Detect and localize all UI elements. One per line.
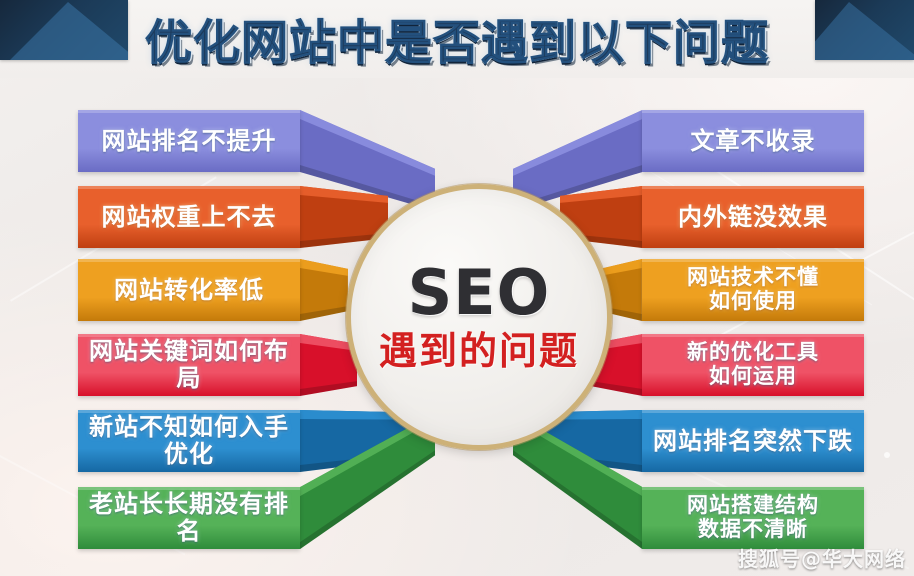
problem-bar-label: 网站排名不提升 (102, 128, 277, 155)
center-circle: SEO 遇到的问题 (346, 184, 612, 450)
problem-bar-label: 网站权重上不去 (102, 204, 277, 231)
problem-bar-label: 老站长长期没有排名 (86, 491, 292, 545)
page-title: 优化网站中是否遇到以下问题 (0, 6, 914, 70)
right-problem-bar-1[interactable]: 文章不收录 (642, 110, 864, 172)
problem-bar-label: 网站转化率低 (114, 277, 264, 304)
left-problem-bar-1[interactable]: 网站排名不提升 (78, 110, 300, 172)
right-problem-bar-4[interactable]: 新的优化工具如何运用 (642, 334, 864, 396)
problem-bar-label: 网站排名突然下跌 (653, 428, 853, 455)
right-problem-bar-6[interactable]: 网站搭建结构数据不清晰 (642, 487, 864, 549)
watermark: 搜狐号@华大网络 (738, 543, 906, 572)
problem-bar-label: 新站不知如何入手优化 (86, 414, 292, 468)
problem-bar-label: 文章不收录 (691, 128, 816, 155)
left-problem-bar-2[interactable]: 网站权重上不去 (78, 186, 300, 248)
left-problem-bar-6[interactable]: 老站长长期没有排名 (78, 487, 300, 549)
left-problem-bar-5[interactable]: 新站不知如何入手优化 (78, 410, 300, 472)
right-problem-bar-2[interactable]: 内外链没效果 (642, 186, 864, 248)
right-problem-bar-5[interactable]: 网站排名突然下跌 (642, 410, 864, 472)
right-problem-bar-3[interactable]: 网站技术不懂如何使用 (642, 259, 864, 321)
left-problem-bar-3[interactable]: 网站转化率低 (78, 259, 300, 321)
infographic-canvas: 优化网站中是否遇到以下问题 网站排名不提升网站权重上不去网站转化率低网站关键词如… (0, 0, 914, 576)
problem-bar-label: 内外链没效果 (678, 204, 828, 231)
problem-bar-label: 网站技术不懂如何使用 (687, 266, 819, 313)
left-problem-bar-4[interactable]: 网站关键词如何布局 (78, 334, 300, 396)
center-primary-label: SEO (408, 262, 551, 324)
background-dot (884, 452, 890, 458)
problem-bar-label: 新的优化工具如何运用 (687, 341, 819, 388)
problem-bar-label: 网站关键词如何布局 (86, 338, 292, 392)
problem-bar-label: 网站搭建结构数据不清晰 (687, 494, 819, 541)
center-secondary-label: 遇到的问题 (379, 332, 579, 372)
